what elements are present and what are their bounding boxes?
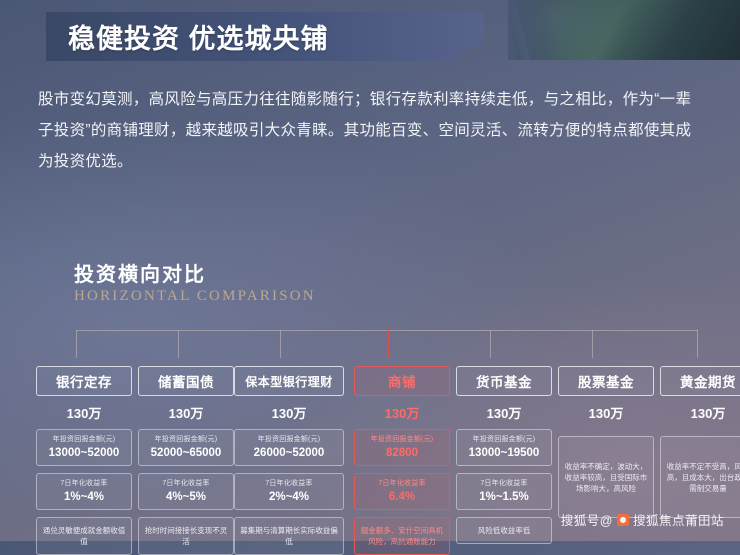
- column-amount: 130万: [660, 403, 740, 422]
- returns-value: 13000~52000: [40, 447, 128, 459]
- note-text: 靓金额多、安什空间具机风险，高抗通账能力: [360, 525, 444, 547]
- header-banner: 稳健投资 优选城央铺: [46, 12, 484, 61]
- returns-value: 82800: [358, 447, 446, 459]
- column-returns-box: 年投资回报金额(元) 26000~52000: [234, 429, 344, 466]
- column-note-box: 风险低收益率低: [456, 517, 552, 544]
- column-rate-box: 7日年化收益率 2%~4%: [234, 473, 344, 510]
- rate-value: 4%~5%: [142, 491, 230, 503]
- photo-fade-overlay: [508, 0, 568, 60]
- intro-paragraph: 股市变幻莫测，高风险与高压力往往随影随行；银行存款利率持续走低，与之相比，作为“…: [38, 84, 706, 177]
- note-text: 募集期与清算期长实际收益偏低: [240, 525, 338, 547]
- note-text: 抢时时间接接长变现不灵活: [144, 525, 228, 547]
- rate-value: 1%~4%: [40, 491, 128, 503]
- column-note-box: 收益率不确定，波动大，收益率较高，且受国际市场影响大，高风险: [558, 436, 654, 518]
- column-amount: 130万: [354, 403, 450, 422]
- comparison-column-gold-futures[interactable]: 黄金期货 130万 收益率不定不受高，风险高，且成本大，出台政策需制交易量: [660, 366, 740, 518]
- column-name: 保本型银行理财: [234, 366, 344, 396]
- column-amount: 130万: [234, 403, 344, 422]
- comparison-column-bank-deposit[interactable]: 银行定存 130万 年投资回报金额(元) 13000~52000 7日年化收益率…: [36, 366, 132, 555]
- comparison-columns: 银行定存 130万 年投资回报金额(元) 13000~52000 7日年化收益率…: [28, 366, 728, 526]
- column-name: 储蓄国债: [138, 366, 234, 396]
- column-note-box: 收益率不定不受高，风险高，且成本大，出台政策需制交易量: [660, 436, 740, 518]
- column-returns-box: 年投资回报金额(元) 82800: [354, 429, 450, 466]
- returns-caption: 年投资回报金额(元): [238, 435, 340, 445]
- column-returns-box: 年投资回报金额(元) 13000~52000: [36, 429, 132, 466]
- page-title: 稳健投资 优选城央铺: [46, 17, 329, 56]
- returns-caption: 年投资回报金额(元): [358, 435, 446, 445]
- column-amount: 130万: [36, 403, 132, 422]
- rate-caption: 7日年化收益率: [142, 479, 230, 489]
- timeline-tick-3: [280, 330, 281, 358]
- column-returns-box: 年投资回报金额(元) 13000~19500: [456, 429, 552, 466]
- timeline-tick-1: [76, 330, 77, 358]
- note-text: 收益率不定不受高，风险高，且成本大，出台政策需制交易量: [666, 461, 740, 494]
- column-note-box: 抢时时间接接长变现不灵活: [138, 517, 234, 555]
- timeline-tick-5: [490, 330, 491, 358]
- returns-caption: 年投资回报金额(元): [460, 435, 548, 445]
- column-rate-box: 7日年化收益率 1%~4%: [36, 473, 132, 510]
- column-name: 商铺: [354, 366, 450, 396]
- column-note-box: 通兑灵敏便成就金额收值值: [36, 517, 132, 555]
- timeline-tick-4-highlight: [388, 330, 389, 358]
- rate-value: 2%~4%: [238, 491, 340, 503]
- returns-value: 26000~52000: [238, 447, 340, 459]
- column-amount: 130万: [138, 403, 234, 422]
- rate-caption: 7日年化收益率: [40, 479, 128, 489]
- section-subtitle: HORIZONTAL COMPARISON: [74, 288, 316, 305]
- column-amount: 130万: [558, 403, 654, 422]
- note-text: 收益率不确定，波动大，收益率较高，且受国际市场影响大，高风险: [564, 461, 648, 494]
- column-amount: 130万: [456, 403, 552, 422]
- column-name: 黄金期货: [660, 366, 740, 396]
- column-rate-box: 7日年化收益率 4%~5%: [138, 473, 234, 510]
- comparison-column-equity-fund[interactable]: 股票基金 130万 收益率不确定，波动大，收益率较高，且受国际市场影响大，高风险: [558, 366, 654, 518]
- column-note-box: 靓金额多、安什空间具机风险，高抗通账能力: [354, 517, 450, 555]
- watermark: 搜狐号@搜狐焦点莆田站: [561, 510, 724, 529]
- returns-caption: 年投资回报金额(元): [142, 435, 230, 445]
- watermark-suffix: 搜狐焦点莆田站: [633, 514, 724, 528]
- watermark-prefix: 搜狐号@: [561, 514, 613, 528]
- timeline-tick-7: [697, 330, 698, 358]
- column-rate-box: 7日年化收益率 6.4%: [354, 473, 450, 510]
- column-note-box: 募集期与清算期长实际收益偏低: [234, 517, 344, 555]
- note-text: 通兑灵敏便成就金额收值值: [42, 525, 126, 547]
- rate-value: 6.4%: [358, 491, 446, 503]
- column-name: 货币基金: [456, 366, 552, 396]
- comparison-column-money-fund[interactable]: 货币基金 130万 年投资回报金额(元) 13000~19500 7日年化收益率…: [456, 366, 552, 544]
- rate-caption: 7日年化收益率: [238, 479, 340, 489]
- returns-value: 13000~19500: [460, 447, 548, 459]
- rate-caption: 7日年化收益率: [460, 479, 548, 489]
- rate-caption: 7日年化收益率: [358, 479, 446, 489]
- note-text: 风险低收益率低: [462, 525, 546, 536]
- column-returns-box: 年投资回报金额(元) 52000~65000: [138, 429, 234, 466]
- column-rate-box: 7日年化收益率 1%~1.5%: [456, 473, 552, 510]
- returns-caption: 年投资回报金额(元): [40, 435, 128, 445]
- comparison-column-shop-highlight[interactable]: 商铺 130万 年投资回报金额(元) 82800 7日年化收益率 6.4% 靓金…: [354, 366, 450, 555]
- sohu-logo-icon: [617, 514, 629, 526]
- timeline-tick-2: [178, 330, 179, 358]
- section-title: 投资横向对比: [74, 258, 206, 287]
- comparison-column-principal-protected[interactable]: 保本型银行理财 130万 年投资回报金额(元) 26000~52000 7日年化…: [234, 366, 344, 555]
- timeline-axis: [76, 330, 698, 331]
- timeline-tick-6: [592, 330, 593, 358]
- column-name: 银行定存: [36, 366, 132, 396]
- returns-value: 52000~65000: [142, 447, 230, 459]
- comparison-column-savings-bond[interactable]: 储蓄国债 130万 年投资回报金额(元) 52000~65000 7日年化收益率…: [138, 366, 234, 555]
- rate-value: 1%~1.5%: [460, 491, 548, 503]
- column-name: 股票基金: [558, 366, 654, 396]
